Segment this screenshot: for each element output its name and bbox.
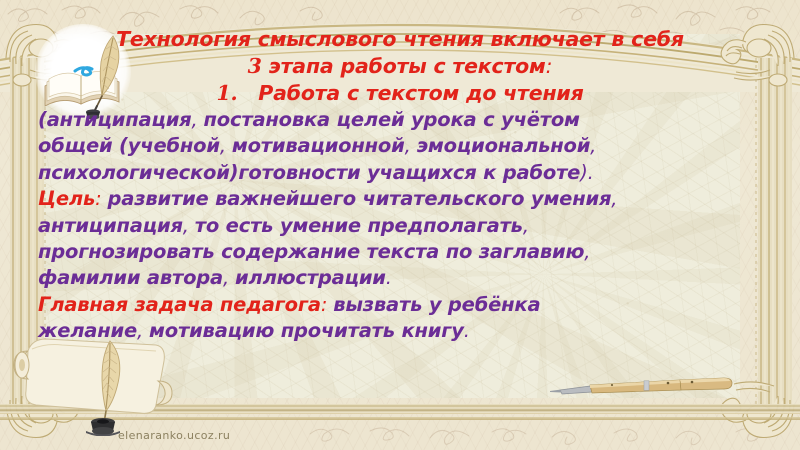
text-fragment: готовности учащихся к работе [238,161,580,184]
text-fragment: постановка целей урока с учётом [204,108,580,131]
body-line-6: прогнозировать содержание текста по загл… [38,239,762,265]
goal-label: Цель [38,187,95,210]
text-fragment: прогнозировать содержание текста по загл… [38,240,584,263]
text-fragment: , [223,266,235,289]
text-fragment: , [405,134,417,157]
body-line-7: фамилии автора, иллюстрации. [38,265,762,291]
text-fragment: , [220,134,232,157]
slide-text-content: Технология смыслового чтения включает в … [38,26,762,345]
text-fragment: ). [580,161,593,184]
heading-line-2-colon: : [546,54,553,78]
text-fragment: . [464,319,470,342]
text-fragment: фамилии автора [38,266,223,289]
text-fragment: : [321,293,333,316]
text-fragment: общей [38,134,119,157]
body-line-3: психологической)готовности учащихся к ра… [38,160,762,186]
text-fragment: , [590,134,596,157]
slide-canvas: Технология смыслового чтения включает в … [0,0,800,450]
text-fragment: вызвать у ребёнка [333,293,540,316]
text-fragment: , [192,108,204,131]
text-fragment: мотивацию прочитать книгу [149,319,464,342]
text-fragment: учебной [128,134,220,157]
heading-line-2-number: 3 [248,54,262,78]
main-task-label: Главная задача педагога [38,293,321,316]
body-line-1: (антиципация, постановка целей урока с у… [38,107,762,133]
heading-line-2: 3 этапа работы с текстом: [38,53,762,80]
text-fragment: эмоциональной [417,134,591,157]
text-fragment: , [137,319,149,342]
body-line-2: общей (учебной, мотивационной, эмоционал… [38,133,762,159]
text-fragment: антиципация [38,214,183,237]
text-fragment: , [183,214,195,237]
text-fragment: развитие важнейшего читательского умения [108,187,612,210]
text-fragment: мотивационной [232,134,405,157]
heading-line-2-text: этапа работы с текстом [269,54,546,78]
bottom-gold-rule-secondary [0,417,800,420]
text-fragment: то есть умение предполагать [195,214,523,237]
text-fragment: , [584,240,590,263]
text-fragment: : [95,187,107,210]
text-fragment: психологической [38,161,230,184]
text-fragment: . [386,266,392,289]
text-fragment: , [523,214,529,237]
text-fragment: ( [38,108,47,131]
text-fragment: иллюстрации [235,266,386,289]
text-fragment: желание [38,319,137,342]
body-line-8: Главная задача педагога: вызвать у ребён… [38,292,762,318]
bottom-gold-rule [0,404,800,414]
heading-line-3: 1. Работа с текстом до чтения [38,80,762,107]
body-line-5: антиципация, то есть умение предполагать… [38,213,762,239]
text-fragment: , [611,187,617,210]
heading-line-3-number: 1. [216,81,237,105]
text-fragment: ( [119,134,128,157]
heading-line-1: Технология смыслового чтения включает в … [38,26,762,53]
body-line-9: желание, мотивацию прочитать книгу. [38,318,762,344]
text-fragment: антиципация [47,108,192,131]
site-watermark: elenaranko.ucoz.ru [118,429,230,442]
body-line-4: Цель: развитие важнейшего читательского … [38,186,762,212]
heading-line-3-text: Работа с текстом до чтения [258,81,583,105]
